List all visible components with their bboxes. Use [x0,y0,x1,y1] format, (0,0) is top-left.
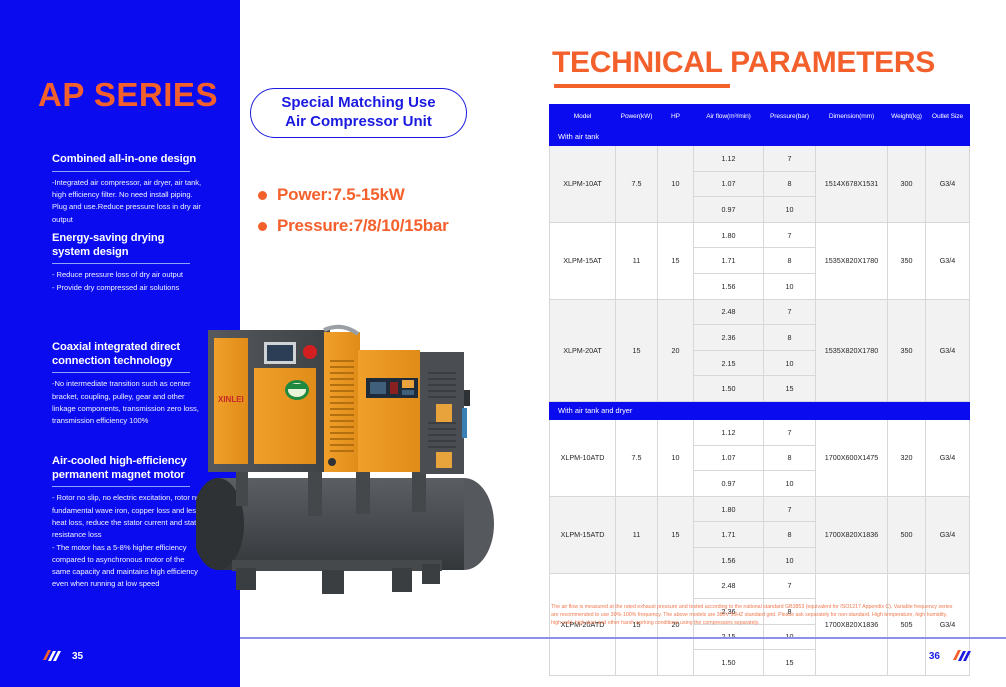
group-label: With air tank and dryer [550,401,970,419]
feature-block: Coaxial integrated direct connection tec… [52,341,204,428]
column-header-outlet: Outlet Size [926,105,970,128]
page-title: TECHNICAL PARAMETERS [552,46,935,80]
table-row: XLPM-15AT11151.8071535X820X1780350G3/4 [550,222,970,248]
cell-air-flow: 0.97 [694,471,764,497]
cell-air-flow: 1.50 [694,376,764,402]
cell-power: 15 [616,299,658,401]
cell-air-flow: 1.07 [694,171,764,197]
cell-weight: 350 [888,222,926,299]
cell-model: XLPM-15AT [550,222,616,299]
cell-air-flow: 1.12 [694,146,764,172]
cell-pressure: 15 [764,376,816,402]
cell-air-flow: 0.97 [694,197,764,223]
cell-air-flow: 1.80 [694,222,764,248]
group-label: With air tank [550,128,970,146]
cell-pressure: 10 [764,547,816,573]
spec-item: Power:7.5-15kW [258,185,449,205]
cell-pressure: 7 [764,222,816,248]
table-row: XLPM-20ATD15202.4871700X820X1836505G3/4 [550,573,970,599]
table-header-row: Model Power(kW) HP Air flow(m³/min) Pres… [550,105,970,128]
table-group-row: With air tank [550,128,970,146]
cell-hp: 15 [658,496,694,573]
cell-air-flow: 1.71 [694,522,764,548]
cell-outlet-size: G3/4 [926,222,970,299]
cell-pressure: 7 [764,573,816,599]
cell-dimension: 1700X600X1475 [816,419,888,496]
cell-outlet-size: G3/4 [926,299,970,401]
cell-outlet-size: G3/4 [926,496,970,573]
cell-air-flow: 2.36 [694,325,764,351]
feature-body: -No intermediate transition such as cent… [52,378,204,427]
footer-divider [240,637,1006,639]
cell-model: XLPM-10AT [550,146,616,223]
cell-air-flow: 2.48 [694,573,764,599]
spec-highlight-list: Power:7.5-15kW Pressure:7/8/10/15bar [258,185,449,247]
feature-heading: Coaxial integrated direct connection tec… [52,341,204,368]
cell-power: 11 [616,222,658,299]
feature-block: Energy-saving drying system design - Red… [52,232,204,294]
company-logo-icon [40,648,62,664]
feature-block: Air-cooled high-efficiency permanent mag… [52,455,204,591]
cell-pressure: 10 [764,350,816,376]
cell-air-flow: 1.71 [694,248,764,274]
cell-dimension: 1700X820X1836 [816,496,888,573]
cell-pressure: 10 [764,471,816,497]
cell-pressure: 7 [764,299,816,325]
cell-weight: 500 [888,496,926,573]
cell-hp: 15 [658,222,694,299]
title-underline [554,84,730,88]
column-header-dimension: Dimension(mm) [816,105,888,128]
cell-pressure: 8 [764,445,816,471]
cell-power: 11 [616,496,658,573]
cell-air-flow: 1.50 [694,650,764,676]
cell-pressure: 15 [764,650,816,676]
technical-parameters-table: Model Power(kW) HP Air flow(m³/min) Pres… [549,104,970,676]
cell-air-flow: 1.56 [694,273,764,299]
brochure-page: AP SERIES Combined all-in-one design -In… [0,0,1006,687]
cell-air-flow: 1.56 [694,547,764,573]
cell-weight: 350 [888,299,926,401]
feature-body: -Integrated air compressor, air dryer, a… [52,177,204,226]
cell-hp: 10 [658,419,694,496]
cell-pressure: 8 [764,325,816,351]
cell-model: XLPM-10ATD [550,419,616,496]
badge-line-2: Air Compressor Unit [285,113,432,132]
cell-weight: 300 [888,146,926,223]
page-number-left: 35 [72,651,83,662]
cell-model: XLPM-15ATD [550,496,616,573]
cell-pressure: 7 [764,419,816,445]
feature-heading: Combined all-in-one design [52,153,204,167]
table-row: XLPM-20AT15202.4871535X820X1780350G3/4 [550,299,970,325]
cell-pressure: 8 [764,171,816,197]
page-number-right: 36 [929,651,940,662]
cell-power: 7.5 [616,146,658,223]
cell-dimension: 1535X820X1780 [816,299,888,401]
company-logo-icon [950,648,972,664]
cell-air-flow: 1.07 [694,445,764,471]
table-group-row: With air tank and dryer [550,401,970,419]
table-row: XLPM-10ATD7.5101.1271700X600X1475320G3/4 [550,419,970,445]
cell-air-flow: 2.48 [694,299,764,325]
feature-heading: Air-cooled high-efficiency permanent mag… [52,455,204,482]
cell-hp: 20 [658,299,694,401]
cell-pressure: 10 [764,197,816,223]
spec-item: Pressure:7/8/10/15bar [258,216,449,236]
column-header-weight: Weight(kg) [888,105,926,128]
cell-pressure: 7 [764,146,816,172]
bullet-dot-icon [258,222,267,231]
svg-text:XINLEI: XINLEI [218,395,244,404]
divider [52,171,190,172]
spec-label: Pressure:7/8/10/15bar [277,216,449,236]
cell-air-flow: 1.80 [694,496,764,522]
divider [52,263,190,264]
divider [52,372,190,373]
column-header-model: Model [550,105,616,128]
footer-right: 36 [929,648,972,664]
cell-pressure: 8 [764,248,816,274]
feature-body: - Reduce pressure loss of dry air output… [52,269,204,294]
bullet-dot-icon [258,191,267,200]
series-title: AP SERIES [38,76,218,114]
cell-outlet-size: G3/4 [926,146,970,223]
cell-power: 7.5 [616,419,658,496]
cell-air-flow: 1.12 [694,419,764,445]
column-header-power: Power(kW) [616,105,658,128]
cell-pressure: 8 [764,522,816,548]
divider [52,486,190,487]
spec-label: Power:7.5-15kW [277,185,405,205]
badge-line-1: Special Matching Use [281,94,435,113]
footer-left: 35 [40,648,83,664]
column-header-hp: HP [658,105,694,128]
cell-hp: 10 [658,146,694,223]
product-badge: Special Matching Use Air Compressor Unit [250,88,467,138]
cell-pressure: 10 [764,273,816,299]
cell-air-flow: 2.15 [694,350,764,376]
cell-dimension: 1535X820X1780 [816,222,888,299]
cell-pressure: 7 [764,496,816,522]
column-header-pressure: Pressure(bar) [764,105,816,128]
cell-dimension: 1514X678X1531 [816,146,888,223]
product-photo: XINLEI [196,312,516,602]
table-footnote: The air flow is measured at the rated ex… [551,603,955,628]
cell-model: XLPM-20AT [550,299,616,401]
cell-outlet-size: G3/4 [926,419,970,496]
cell-weight: 320 [888,419,926,496]
feature-heading: Energy-saving drying system design [52,232,204,259]
table-row: XLPM-15ATD11151.8071700X820X1836500G3/4 [550,496,970,522]
table-row: XLPM-10AT7.5101.1271514X678X1531300G3/4 [550,146,970,172]
feature-body: - Rotor no slip, no electric excitation,… [52,492,204,590]
column-header-air-flow: Air flow(m³/min) [694,105,764,128]
feature-block: Combined all-in-one design -Integrated a… [52,153,204,226]
